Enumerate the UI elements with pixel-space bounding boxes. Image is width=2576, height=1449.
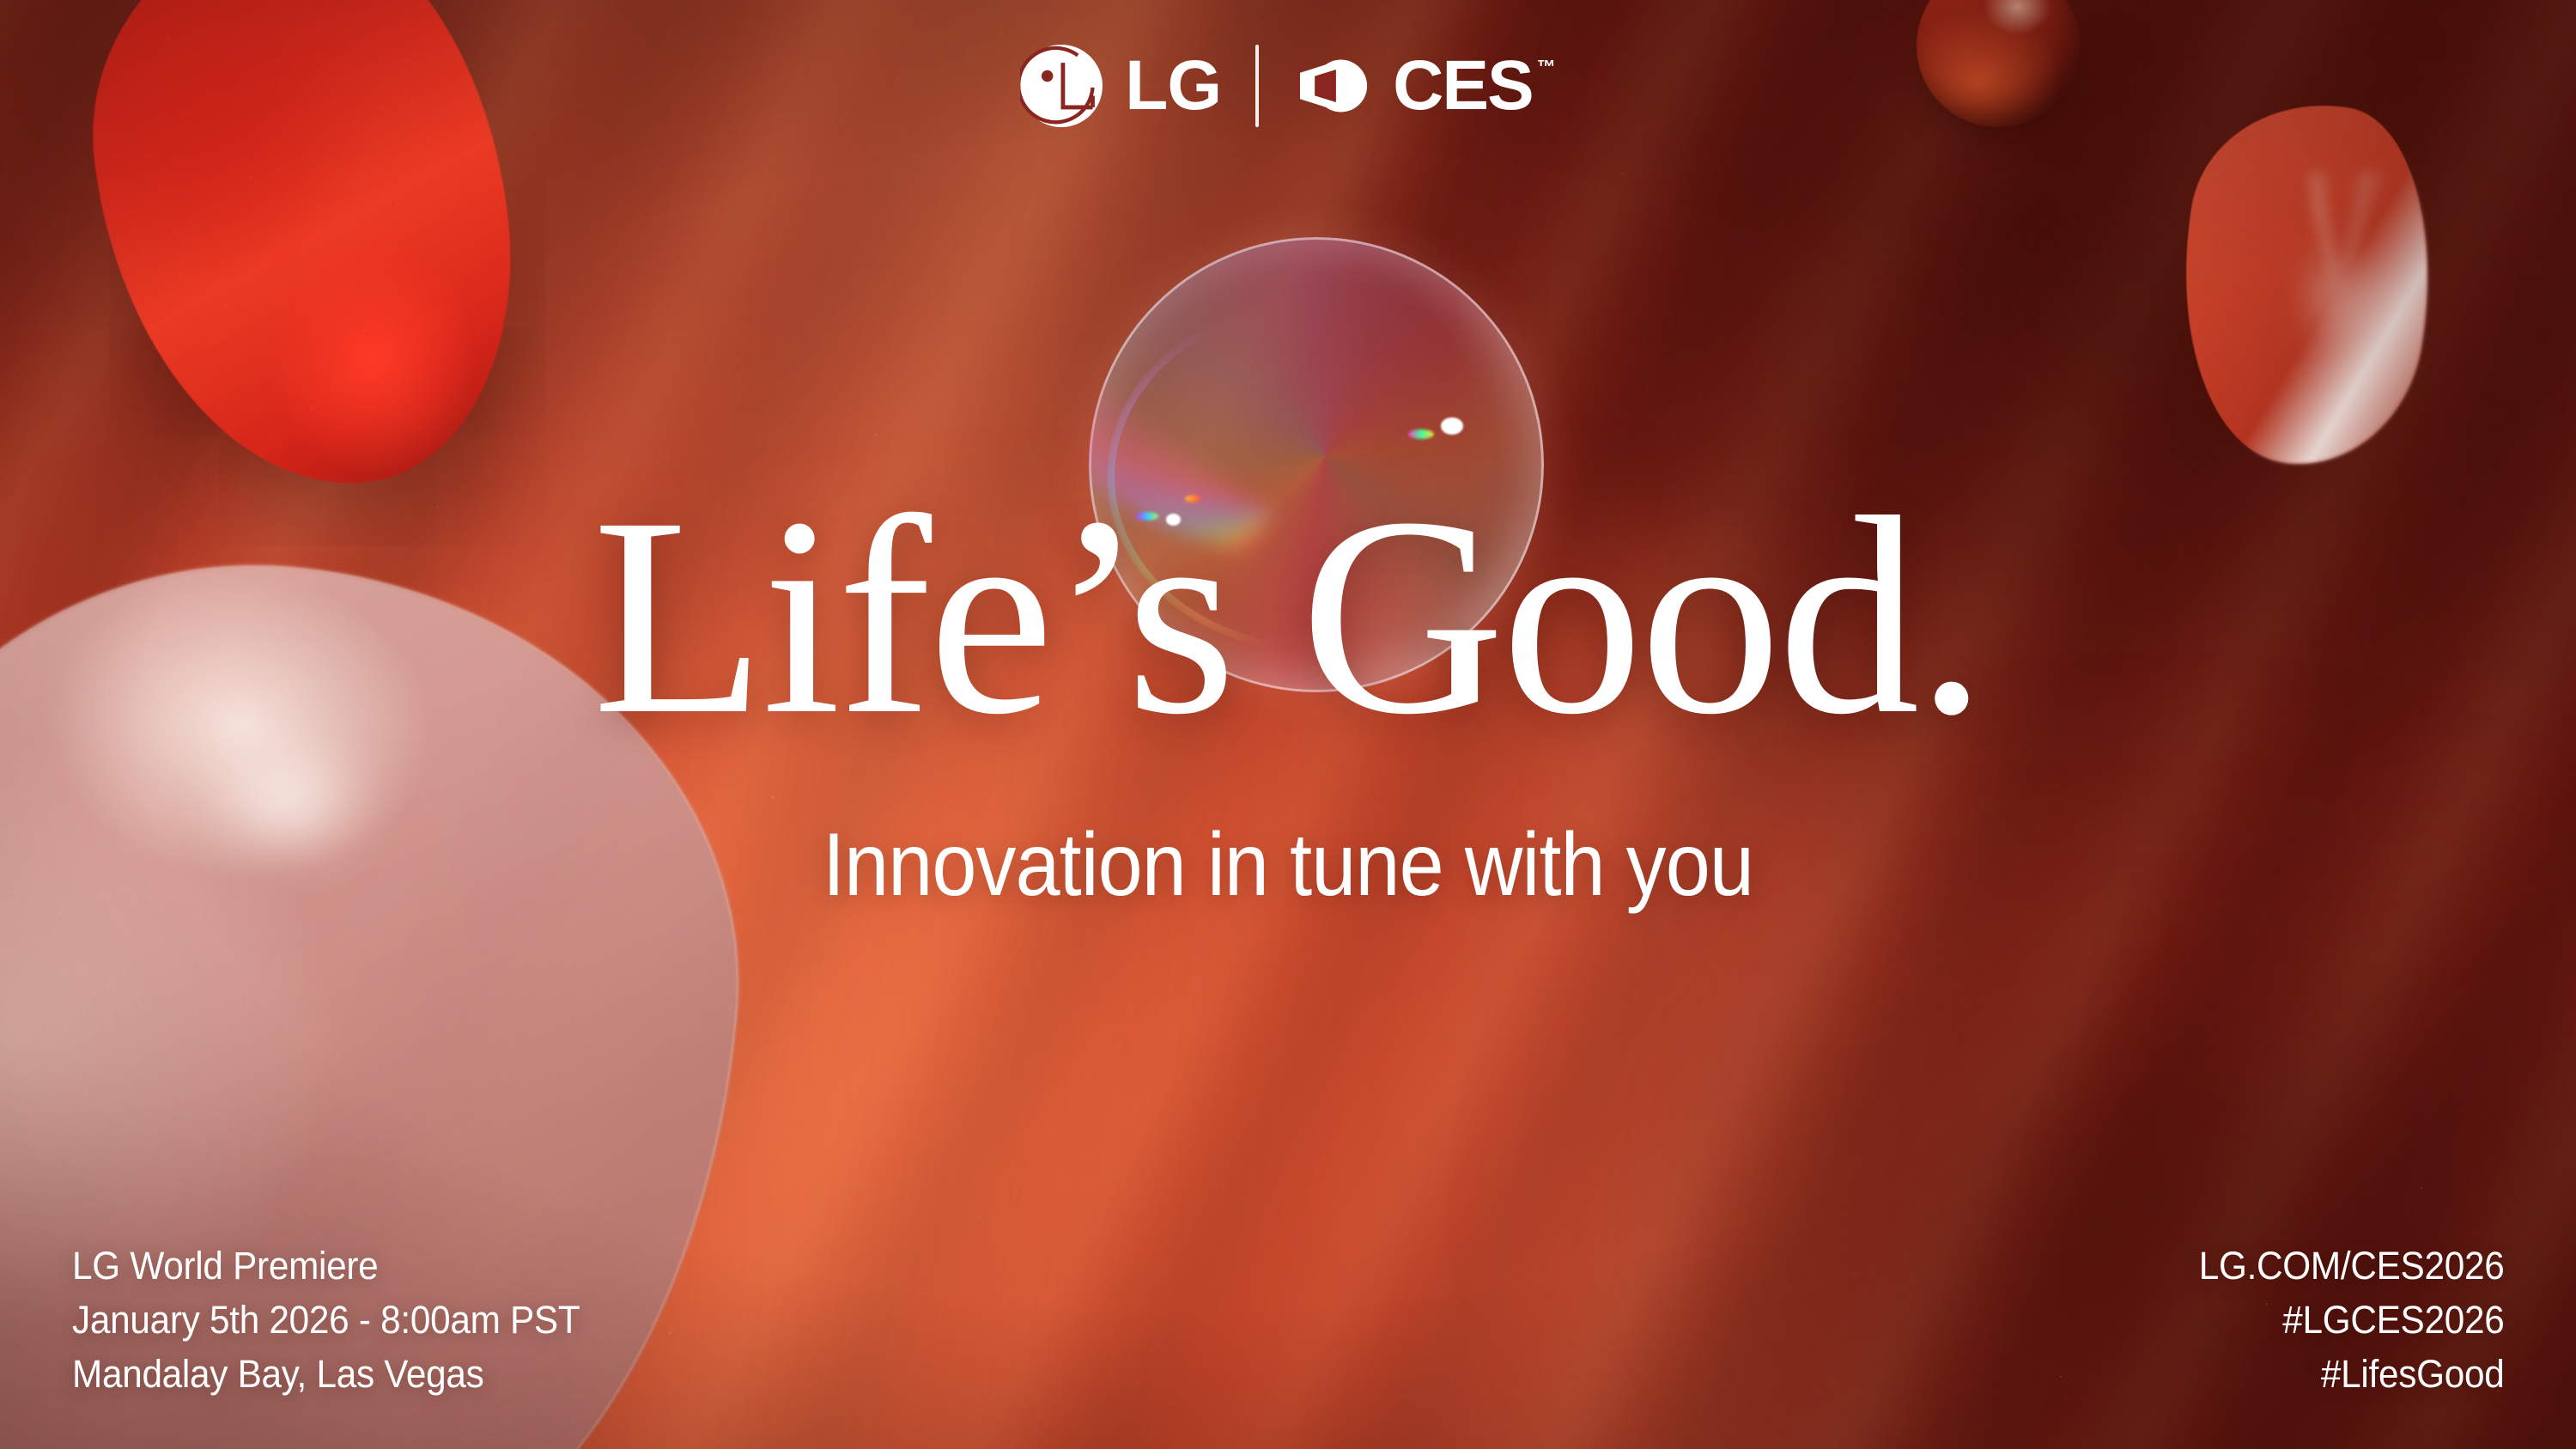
links-block: LG.COM/CES2026 #LGCES2026 #LifesGood (2198, 1239, 2504, 1401)
event-venue: Mandalay Bay, Las Vegas (72, 1347, 580, 1401)
vertical-divider-icon (1255, 45, 1259, 127)
event-datetime: January 5th 2026 - 8:00am PST (72, 1293, 580, 1347)
subheadline-tagline: Innovation in tune with you (129, 820, 2447, 910)
event-title: LG World Premiere (72, 1239, 580, 1293)
logo-bar: LG CES ™ (0, 45, 2576, 127)
lg-face-logo-icon (1020, 45, 1103, 127)
trademark-symbol: ™ (1537, 58, 1556, 76)
ces-logo-lockup[interactable]: CES ™ (1293, 51, 1556, 121)
lg-wordmark: LG (1125, 51, 1221, 121)
hashtag-lgces[interactable]: #LGCES2026 (2198, 1293, 2504, 1347)
lg-logo-lockup[interactable]: LG (1020, 45, 1221, 127)
headline-lifes-good: Life’s Good. (0, 486, 2576, 747)
event-info-block: LG World Premiere January 5th 2026 - 8:0… (72, 1239, 580, 1401)
ces-screen-logo-icon (1293, 52, 1376, 120)
hashtag-lifesgood[interactable]: #LifesGood (2198, 1347, 2504, 1401)
website-url[interactable]: LG.COM/CES2026 (2198, 1239, 2504, 1293)
lg-ces-2026-promo-banner: LG CES ™ Life’s Good. Innovation (0, 0, 2576, 1449)
ces-wordmark: CES (1393, 51, 1533, 121)
